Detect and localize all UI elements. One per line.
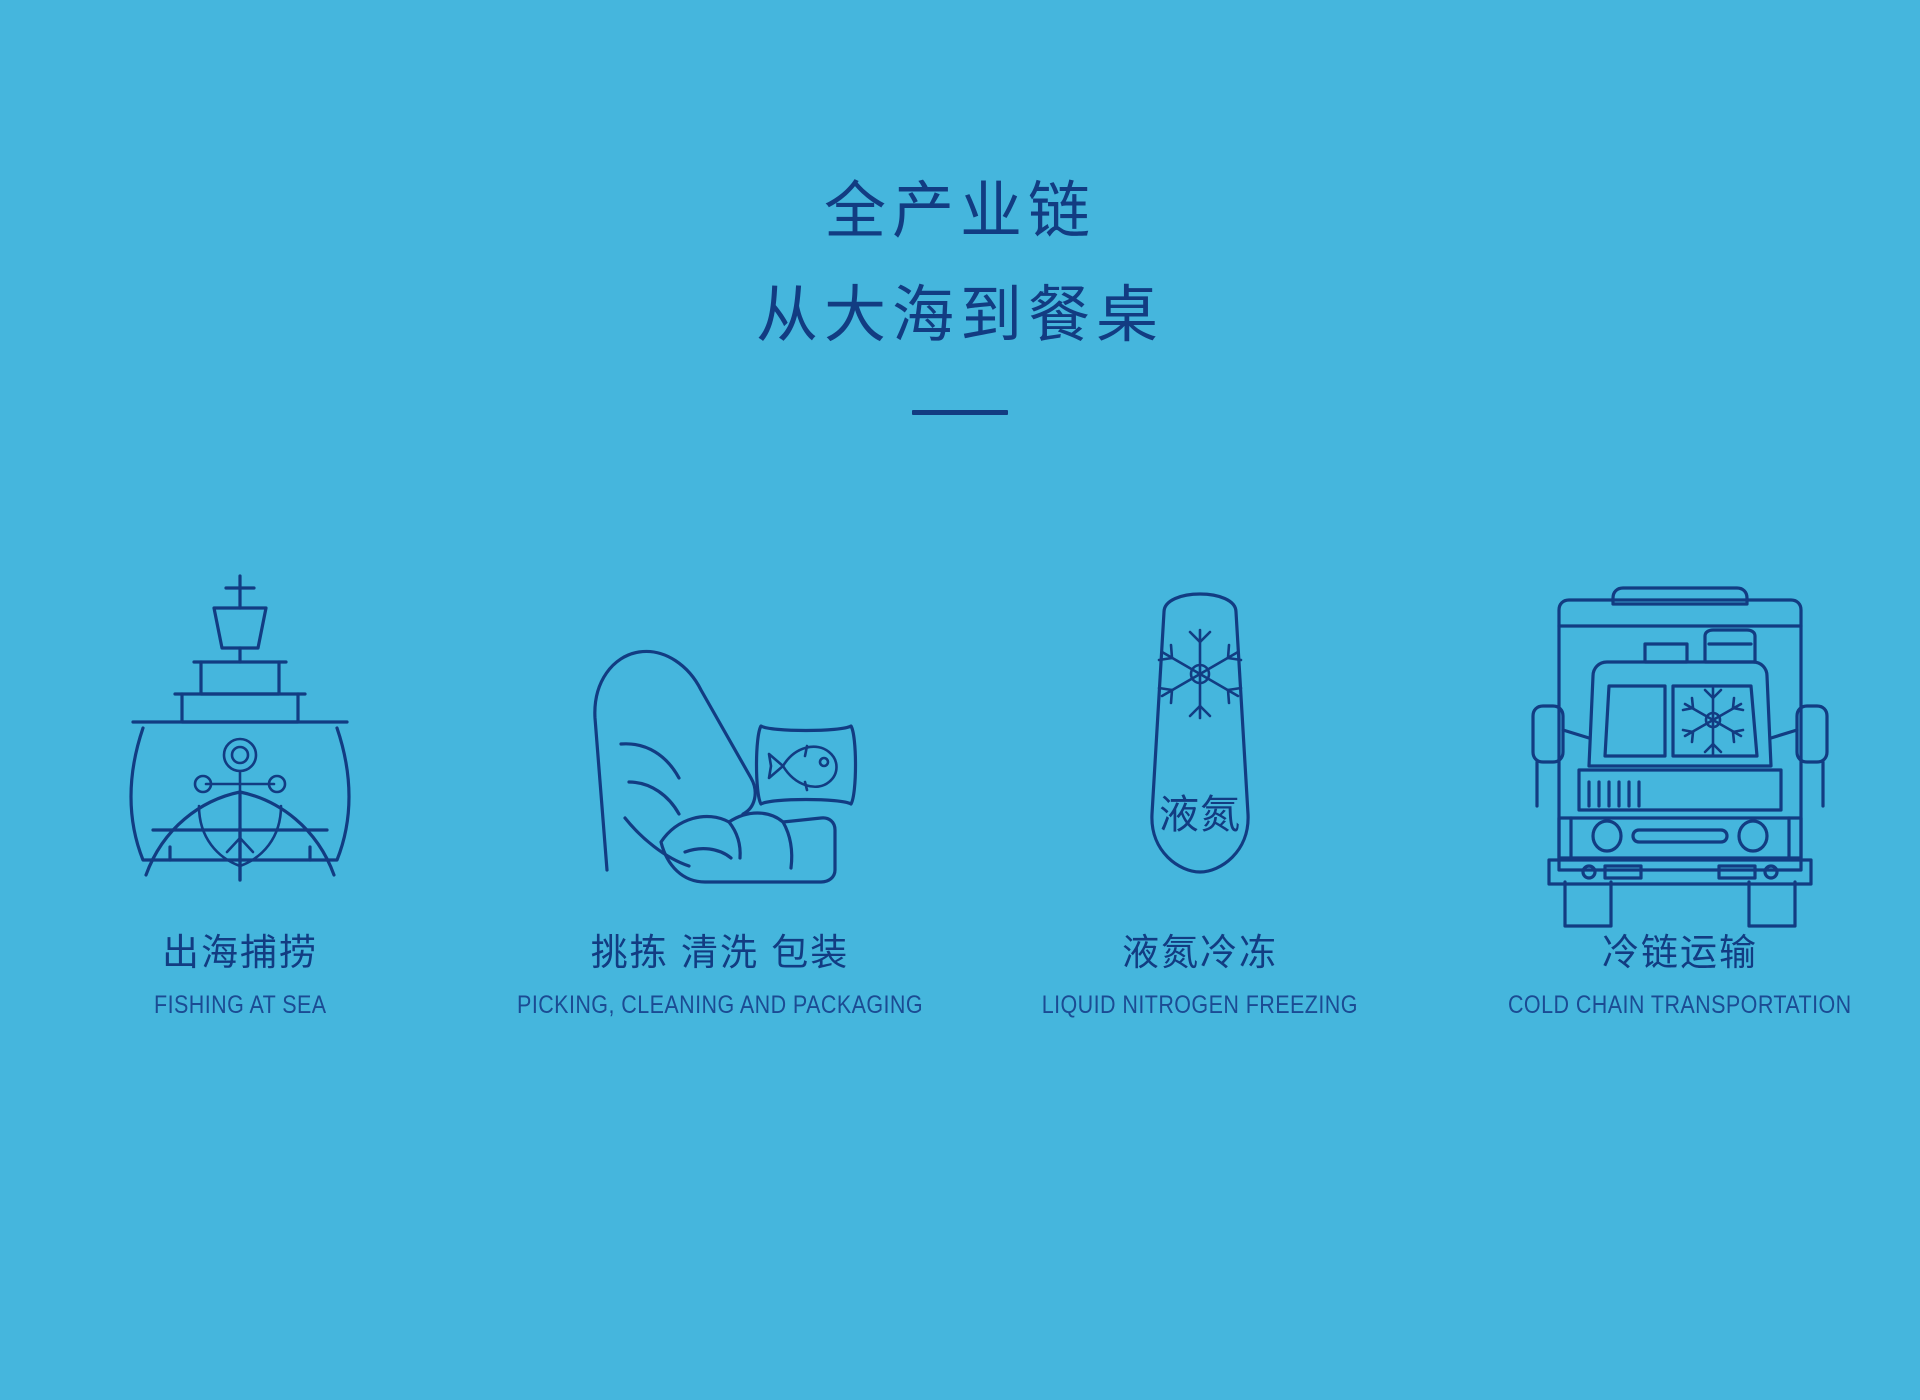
step-picking-cleaning-packaging[interactable]: 挑拣 清洗 包装 PICKING, CLEANING AND PACKAGING [480, 540, 960, 1020]
tank-text: 液氮 [1159, 793, 1241, 837]
step-cold-chain-transportation[interactable]: 冷链运输 COLD CHAIN TRANSPORTATION [1440, 540, 1920, 1020]
snowflake-icon [1683, 688, 1743, 754]
fishing-boat-with-anchor-icon [75, 540, 405, 880]
title-line-1: 全产业链 [0, 160, 1920, 264]
step-label-cn: 挑拣 清洗 包装 [484, 928, 956, 978]
liquid-nitrogen-tank-icon: 液氮 [1035, 540, 1365, 880]
step-label-cn: 液氮冷冻 [1016, 928, 1384, 978]
step-liquid-nitrogen-freezing[interactable]: 液氮 液氮冷冻 LIQUID NITROGEN FREEZING [960, 540, 1440, 1020]
step-labels: 出海捕捞 FISHING AT SEA [140, 928, 341, 1020]
step-label-cn: 冷链运输 [1480, 928, 1880, 978]
hands-holding-packaged-fish-icon [555, 540, 885, 880]
process-steps: 出海捕捞 FISHING AT SEA [0, 540, 1920, 1020]
step-label-en: LIQUID NITROGEN FREEZING [1042, 990, 1358, 1020]
step-labels: 冷链运输 COLD CHAIN TRANSPORTATION [1480, 928, 1880, 1020]
snowflake-icon [1159, 630, 1241, 718]
infographic-canvas: 全产业链 从大海到餐桌 [0, 0, 1920, 1400]
step-label-cn: 出海捕捞 [140, 928, 341, 978]
step-fishing-at-sea[interactable]: 出海捕捞 FISHING AT SEA [0, 540, 480, 1020]
title-line-2: 从大海到餐桌 [0, 264, 1920, 368]
page-title: 全产业链 从大海到餐桌 [0, 160, 1920, 412]
step-label-en: COLD CHAIN TRANSPORTATION [1508, 990, 1852, 1020]
title-divider [912, 410, 1008, 415]
step-label-en: PICKING, CLEANING AND PACKAGING [517, 990, 923, 1020]
refrigerated-truck-icon [1515, 540, 1845, 880]
step-labels: 挑拣 清洗 包装 PICKING, CLEANING AND PACKAGING [484, 928, 956, 1020]
title-divider-wrap [0, 402, 1920, 412]
step-label-en: FISHING AT SEA [154, 990, 326, 1020]
step-labels: 液氮冷冻 LIQUID NITROGEN FREEZING [1016, 928, 1384, 1020]
